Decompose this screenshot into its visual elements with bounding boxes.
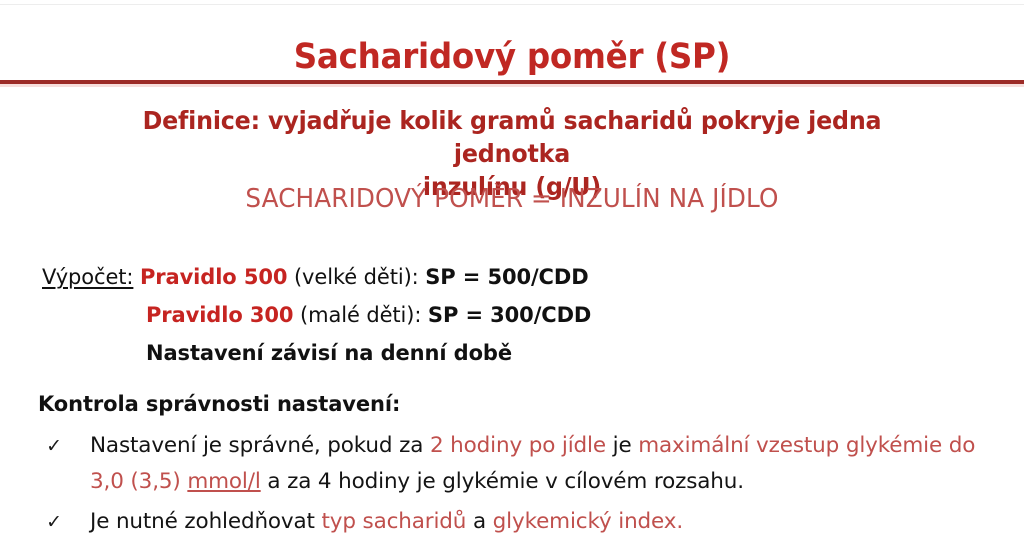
bullet-1-seg-3: je (606, 433, 638, 458)
bullet-1-text: Nastavení je správné, pokud za 2 hodiny … (90, 428, 1013, 500)
bullet-2-seg-1: Je nutné zohledňovat (90, 509, 321, 534)
calculation-note: Nastavení závisí na denní době (146, 341, 512, 365)
calculation-block: Výpočet: Pravidlo 500 (velké děti): SP =… (42, 258, 982, 372)
equation-text: SACHARIDOVÝ POMĚR = INZULÍN NA JÍDLO (26, 182, 999, 216)
title-block: Sacharidový poměr (SP) (0, 36, 1024, 78)
check-bullet-list: ✓ Nastavení je správné, pokud za 2 hodin… (38, 428, 1013, 544)
bullet-2-text: Je nutné zohledňovat typ sacharidů a gly… (90, 504, 1013, 540)
page-title: Sacharidový poměr (SP) (36, 36, 988, 78)
bullet-2-seg-2: typ sacharidů (321, 509, 466, 534)
list-item: ✓ Je nutné zohledňovat typ sacharidů a g… (38, 504, 1013, 540)
list-item: ✓ Nastavení je správné, pokud za 2 hodin… (38, 428, 1013, 500)
calculation-row-300: Pravidlo 300 (malé děti): SP = 300/CDD (42, 296, 982, 334)
bullet-1-seg-6: a za 4 hodiny je glykémie v cílovém rozs… (261, 469, 744, 494)
check-section-heading: Kontrola správnosti nastavení: (38, 390, 400, 418)
rule-formula-300: SP = 300/CDD (428, 303, 591, 327)
rule-audience-300: (malé děti): (293, 303, 428, 327)
rule-audience-500: (velké děti): (287, 265, 425, 289)
calculation-note-row: Nastavení závisí na denní době (42, 334, 982, 372)
bullet-1-seg-2: 2 hodiny po jídle (430, 433, 606, 458)
bullet-1-seg-1: Nastavení je správné, pokud za (90, 433, 430, 458)
rule-name-500: Pravidlo 500 (140, 265, 287, 289)
bullet-2-seg-4: glykemický index. (493, 509, 683, 534)
calculation-label: Výpočet: (42, 265, 133, 289)
slide-canvas: Sacharidový poměr (SP) Definice: vyjadřu… (0, 0, 1024, 552)
rule-formula-500: SP = 500/CDD (425, 265, 588, 289)
definition-line-1: Definice: vyjadřuje kolik gramů sacharid… (143, 106, 882, 168)
check-icon: ✓ (44, 428, 64, 464)
check-icon: ✓ (44, 504, 64, 540)
bullet-1-seg-5: mmol/l (187, 469, 260, 494)
bullet-2-seg-3: a (466, 509, 492, 534)
title-divider-shadow (0, 84, 1024, 87)
top-hairline-divider (0, 4, 1024, 5)
calculation-row-500: Výpočet: Pravidlo 500 (velké děti): SP =… (42, 258, 982, 296)
rule-name-300: Pravidlo 300 (146, 303, 293, 327)
